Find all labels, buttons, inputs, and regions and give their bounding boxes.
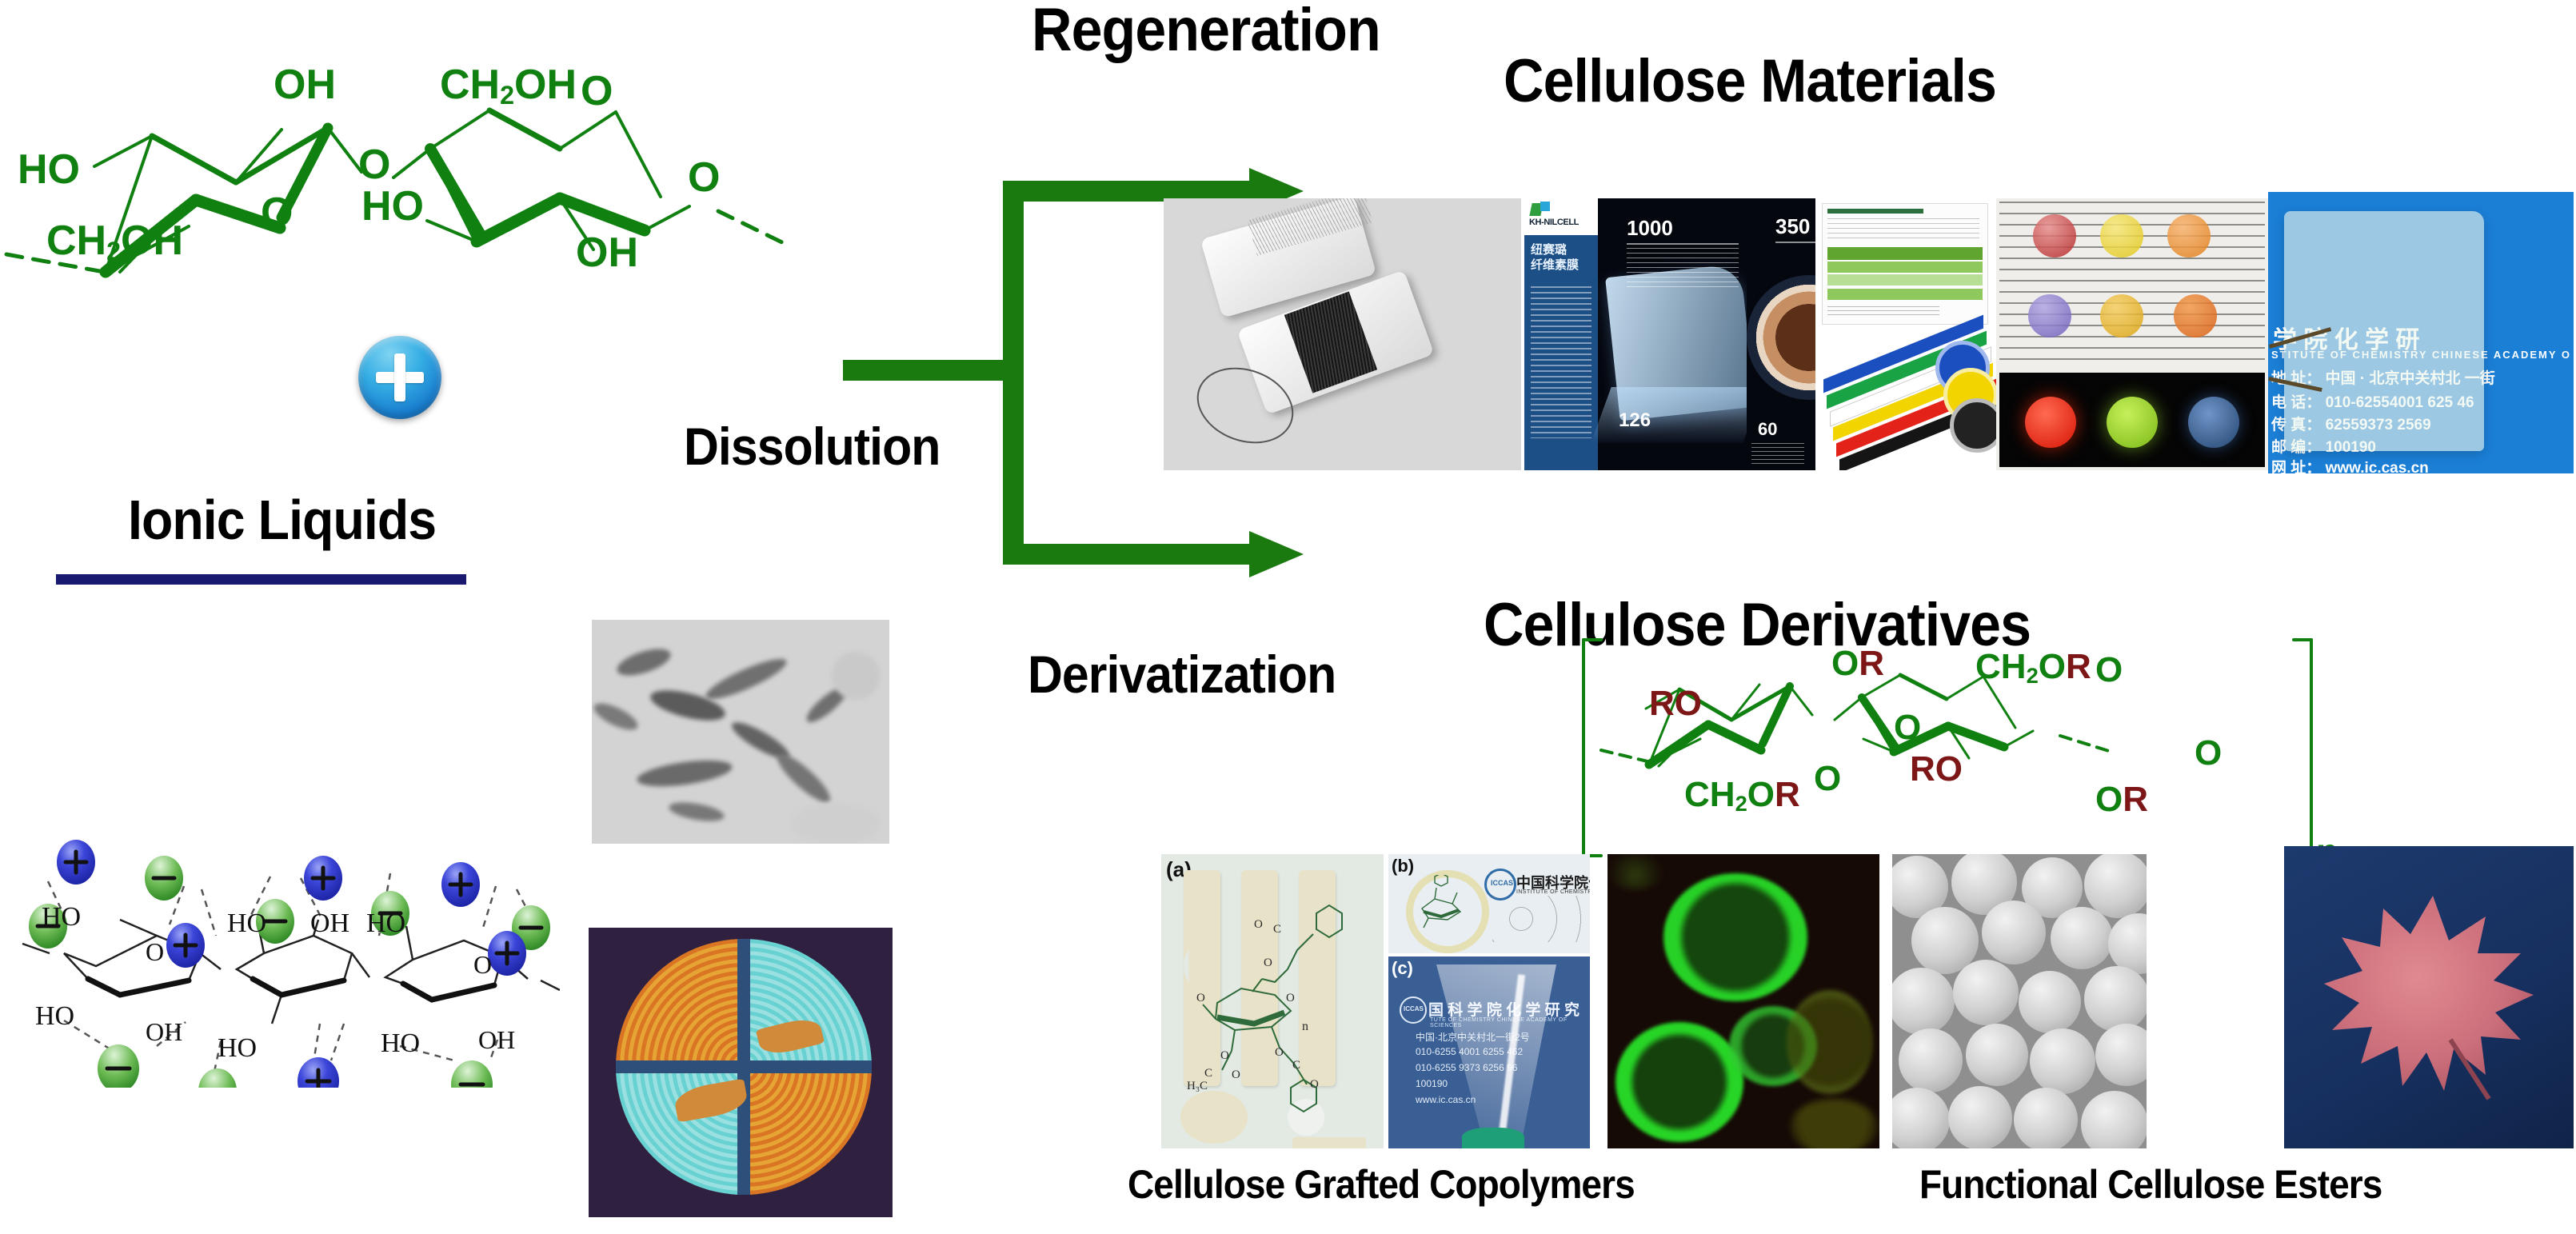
kh-nilcell-logo: KH-NILCELL: [1524, 198, 1598, 235]
tem-micrograph-panel: [592, 620, 889, 844]
brochure-number-126: 126: [1619, 409, 1651, 432]
maple-leaf-shape: [2284, 846, 2574, 1148]
il-chain-label-o-2: O: [473, 950, 492, 980]
maple-leaf-film-panel: [2284, 846, 2574, 1148]
cellulose-label-o-ring1: O: [261, 192, 293, 234]
dissolution-label: Dissolution: [684, 416, 940, 477]
cellulose-label-ho-1: HO: [18, 149, 80, 190]
ionic-liquid-cellulose-diagram: [0, 672, 560, 1088]
deriv-label-or-1: OR: [1831, 646, 1884, 681]
svg-text:O: O: [1264, 956, 1272, 969]
card-line-website: 网 址： www.ic.cas.cn: [2271, 456, 2429, 473]
il-chain-label-ho-3: HO: [227, 909, 266, 939]
cone-card-website: www.ic.cas.cn: [1416, 1094, 1476, 1105]
brochure-number-350: 350: [1775, 214, 1810, 239]
il-chain-label-ho-2: HO: [35, 1001, 74, 1032]
caption-functional-esters: Functional Cellulose Esters: [1919, 1161, 2382, 1208]
svg-text:O: O: [1196, 992, 1205, 1004]
svg-text:O: O: [1220, 1049, 1229, 1062]
svg-text:C: C: [1204, 1067, 1212, 1080]
fiber-spools-panel: [1164, 198, 1521, 470]
copolymer-ring-panel: (b) ICCAS 中国科学院化学研究所 INSTITUTE OF CHEMIS…: [1388, 854, 1590, 953]
transparent-film-cone-panel: (c) ICCAS 国 科 学 院 化 学 研 究 TUTE OF CHEMIS…: [1388, 956, 1590, 1148]
plus-icon-vertical-bar: [394, 353, 405, 401]
deriv-label-ch2or-2: CH2OR: [1975, 649, 2091, 686]
deriv-label-o-terminal: O: [2195, 736, 2222, 771]
gloved-hand: [1462, 1128, 1524, 1148]
pom-cross-vertical: [737, 939, 750, 1195]
sem-microspheres-panel: [1892, 854, 2147, 1148]
cellulose-label-ch2oh-2: CH2OH: [440, 64, 577, 108]
cellulose-label-ch2oh-1: CH2OH: [46, 220, 183, 264]
svg-text:O: O: [1275, 1046, 1284, 1059]
cellulose-label-o-terminal: O: [688, 157, 720, 198]
iccas-logo-watermark: ICCAS: [1400, 996, 1427, 1024]
deriv-label-o-ring2: O: [2095, 653, 2123, 688]
tape-rolls-panel: [1815, 198, 1996, 470]
cellulose-label-oh-2: OH: [576, 232, 638, 274]
ionic-liquids-underline: [56, 574, 466, 585]
cellulose-label-ho-2: HO: [361, 186, 424, 227]
cellulose-materials-heading: Cellulose Materials: [1504, 46, 1996, 116]
deriv-label-ro-1: RO: [1649, 686, 1702, 721]
ionic-liquids-heading: Ionic Liquids: [128, 488, 436, 552]
il-chain-label-ho-4: HO: [218, 1033, 257, 1064]
il-chain-label-o-1: O: [146, 937, 164, 967]
transparent-film-on-card-panel: 学 院 化 学 研 STITUTE OF CHEMISTRY CHINESE A…: [2268, 192, 2574, 473]
ring-structure-overlay: [1416, 875, 1472, 934]
brochure-number-1000: 1000: [1627, 216, 1673, 241]
institute-name-en: INSTITUTE OF CHEMISTRY CHINESE ACADEMY O…: [1516, 889, 1590, 895]
cellulose-label-o-glycosidic: O: [358, 144, 390, 186]
deriv-label-ro-2: RO: [1910, 752, 1963, 787]
deriv-label-or-2: OR: [2095, 782, 2148, 817]
cone-card-postcode: 100190: [1416, 1078, 1448, 1089]
fluorescence-micrograph-panel: [1608, 854, 1879, 1148]
plus-icon: [358, 336, 441, 419]
deriv-label-ch2or-1: CH2OR: [1684, 777, 1800, 814]
brochure-number-60: 60: [1758, 419, 1777, 440]
caption-grafted-copolymers: Cellulose Grafted Copolymers: [1128, 1161, 1635, 1208]
il-chain-label-oh-3: OH: [478, 1025, 515, 1055]
brand-name: KH-NILCELL: [1529, 218, 1579, 227]
film-product-brochure-panel: KH-NILCELL 纽赛璐纤维素膜 1000 126: [1524, 198, 1747, 470]
il-chain-label-ho-1: HO: [42, 902, 81, 932]
panel-label-c: (c): [1392, 958, 1413, 979]
cellulose-label-oh-1: OH: [274, 64, 336, 106]
polarized-optical-micrograph-panel: [589, 928, 893, 1217]
porphyrin-samples-panel: [1996, 198, 2268, 470]
il-chain-label-ho-5: HO: [366, 909, 405, 939]
svg-text:O: O: [1254, 918, 1263, 931]
grafted-copolymer-specimens-panel: (a) O O O O C H₃C O C O C O: [1161, 854, 1384, 1148]
deriv-label-o-ring1: O: [1814, 761, 1841, 797]
il-chain-label-ho-6: HO: [381, 1028, 420, 1059]
svg-text:C: C: [1273, 923, 1281, 936]
cellulose-derivative-structure-diagram: [1552, 632, 2359, 864]
coiled-filament: [1492, 896, 1588, 942]
copolymer-structure-overlay: O O O O C H₃C O C O C O O n: [1185, 899, 1377, 1115]
svg-text:H₃C: H₃C: [1187, 1080, 1208, 1092]
svg-text:n: n: [1302, 1020, 1308, 1033]
panel-label-b: (b): [1392, 856, 1414, 877]
il-chain-label-oh-2: OH: [310, 909, 349, 939]
svg-text:O: O: [1232, 1068, 1240, 1081]
svg-text:O: O: [1286, 992, 1295, 1004]
deriv-label-o-glycosidic: O: [1894, 710, 1921, 745]
cellulose-label-o-ring2: O: [581, 70, 613, 112]
svg-text:C: C: [1292, 1059, 1300, 1072]
il-chain-label-oh-1: OH: [146, 1017, 182, 1047]
regeneration-label: Regeneration: [1032, 0, 1380, 65]
svg-text:O: O: [1310, 1078, 1319, 1091]
